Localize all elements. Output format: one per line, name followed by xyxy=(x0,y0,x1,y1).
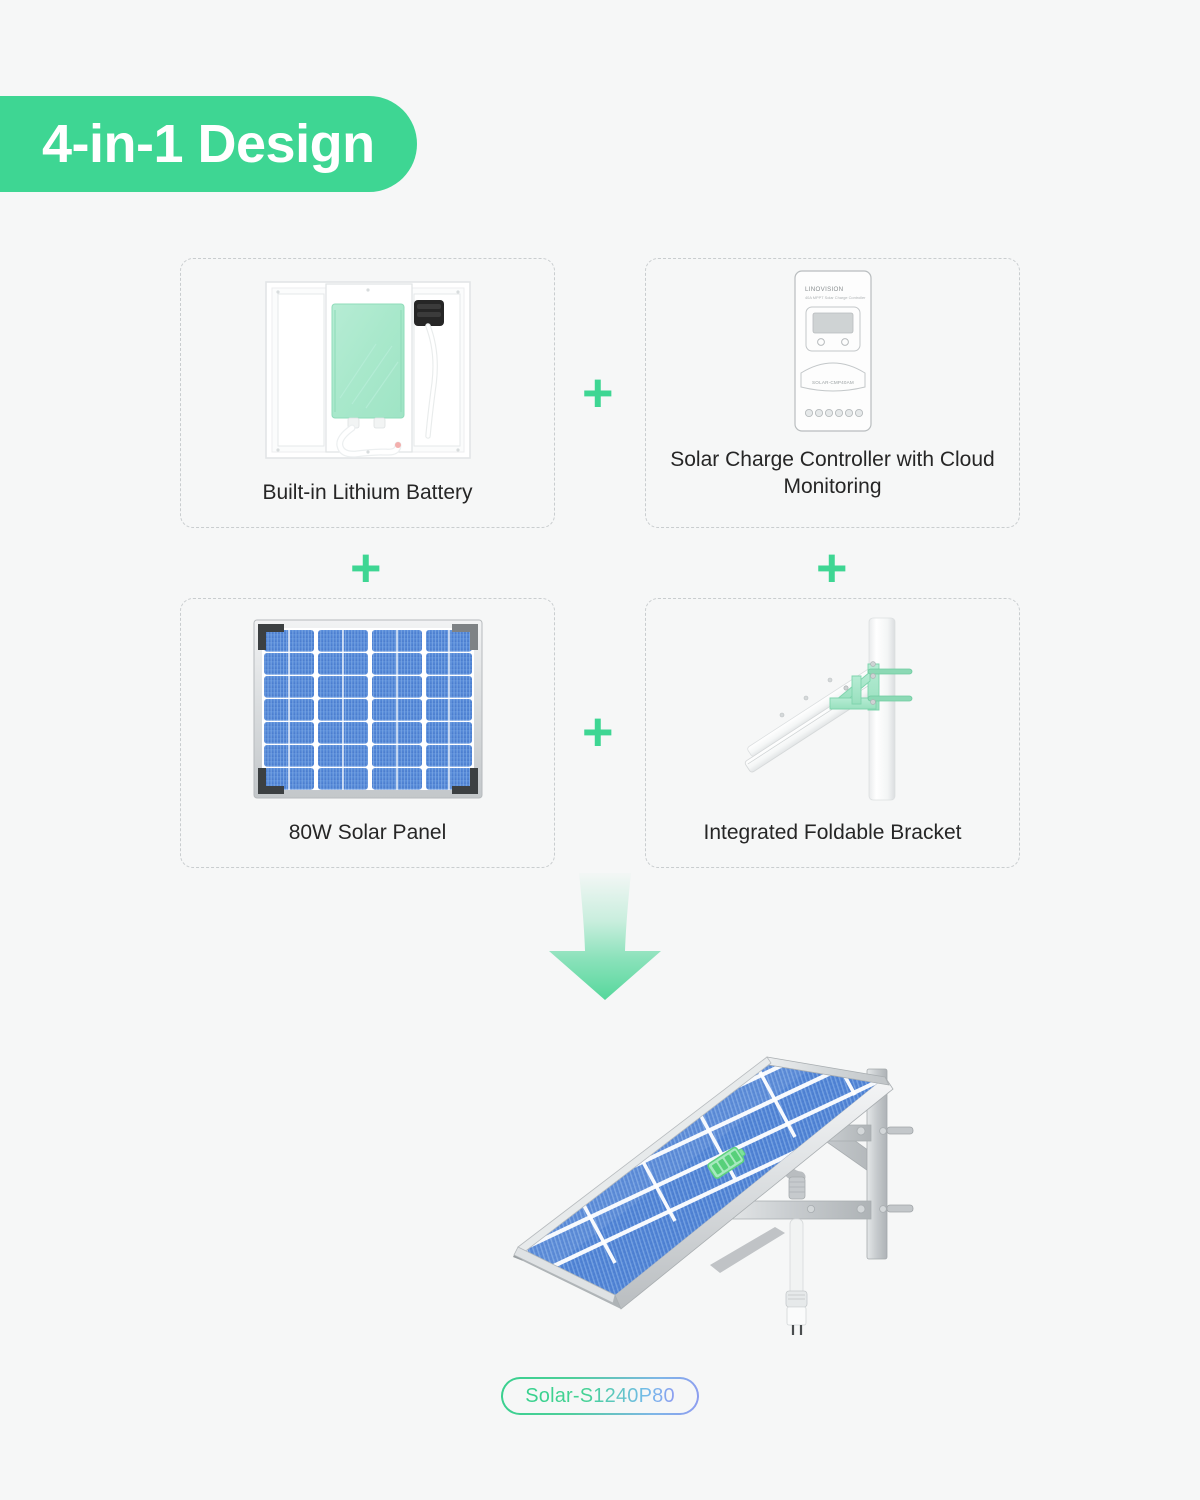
page-title: 4-in-1 Design xyxy=(42,117,375,171)
plus-separator-middle-left: + xyxy=(350,541,382,595)
card-lithium-battery[interactable]: Built-in Lithium Battery xyxy=(180,258,555,528)
plus-separator-bottom-right: + xyxy=(582,705,614,759)
card-solar-panel[interactable]: 80W Solar Panel xyxy=(180,598,555,868)
foldable-bracket-image xyxy=(646,599,1019,819)
card-label: Integrated Foldable Bracket xyxy=(668,819,996,867)
svg-text:40A MPPT Solar Charge Controll: 40A MPPT Solar Charge Controller xyxy=(805,295,866,300)
solar-panel-with-bracket-illustration xyxy=(255,965,955,1355)
plus-separator-middle-right: + xyxy=(816,541,848,595)
charge-controller-illustration: LINOVISION 40A MPPT Solar Charge Control… xyxy=(773,267,893,437)
product-model-badge-inner: Solar-S1240P80 xyxy=(503,1379,698,1414)
lithium-battery-image xyxy=(181,259,554,479)
feature-card-grid: Built-in Lithium Battery LINOVISION 40A … xyxy=(180,258,1020,868)
svg-text:LINOVISION: LINOVISION xyxy=(805,286,843,293)
product-model-badge[interactable]: Solar-S1240P80 xyxy=(501,1377,699,1415)
title-badge: 4-in-1 Design xyxy=(0,96,417,192)
card-label: Built-in Lithium Battery xyxy=(203,479,531,527)
card-label: Solar Charge Controller with Cloud Monit… xyxy=(668,446,996,527)
card-label: 80W Solar Panel xyxy=(203,819,531,867)
foldable-bracket-illustration xyxy=(718,614,948,804)
plus-separator-top-right: + xyxy=(582,366,614,420)
product-model-label: Solar-S1240P80 xyxy=(525,1385,675,1408)
hero-product-image xyxy=(255,965,955,1355)
card-foldable-bracket[interactable]: Integrated Foldable Bracket xyxy=(645,598,1020,868)
solar-panel-illustration xyxy=(252,618,484,800)
svg-text:SOLAR-CMP40AM: SOLAR-CMP40AM xyxy=(812,380,854,385)
lithium-battery-illustration xyxy=(248,274,488,464)
card-solar-charge-controller[interactable]: LINOVISION 40A MPPT Solar Charge Control… xyxy=(645,258,1020,528)
solar-charge-controller-image: LINOVISION 40A MPPT Solar Charge Control… xyxy=(646,259,1019,446)
solar-panel-image xyxy=(181,599,554,819)
